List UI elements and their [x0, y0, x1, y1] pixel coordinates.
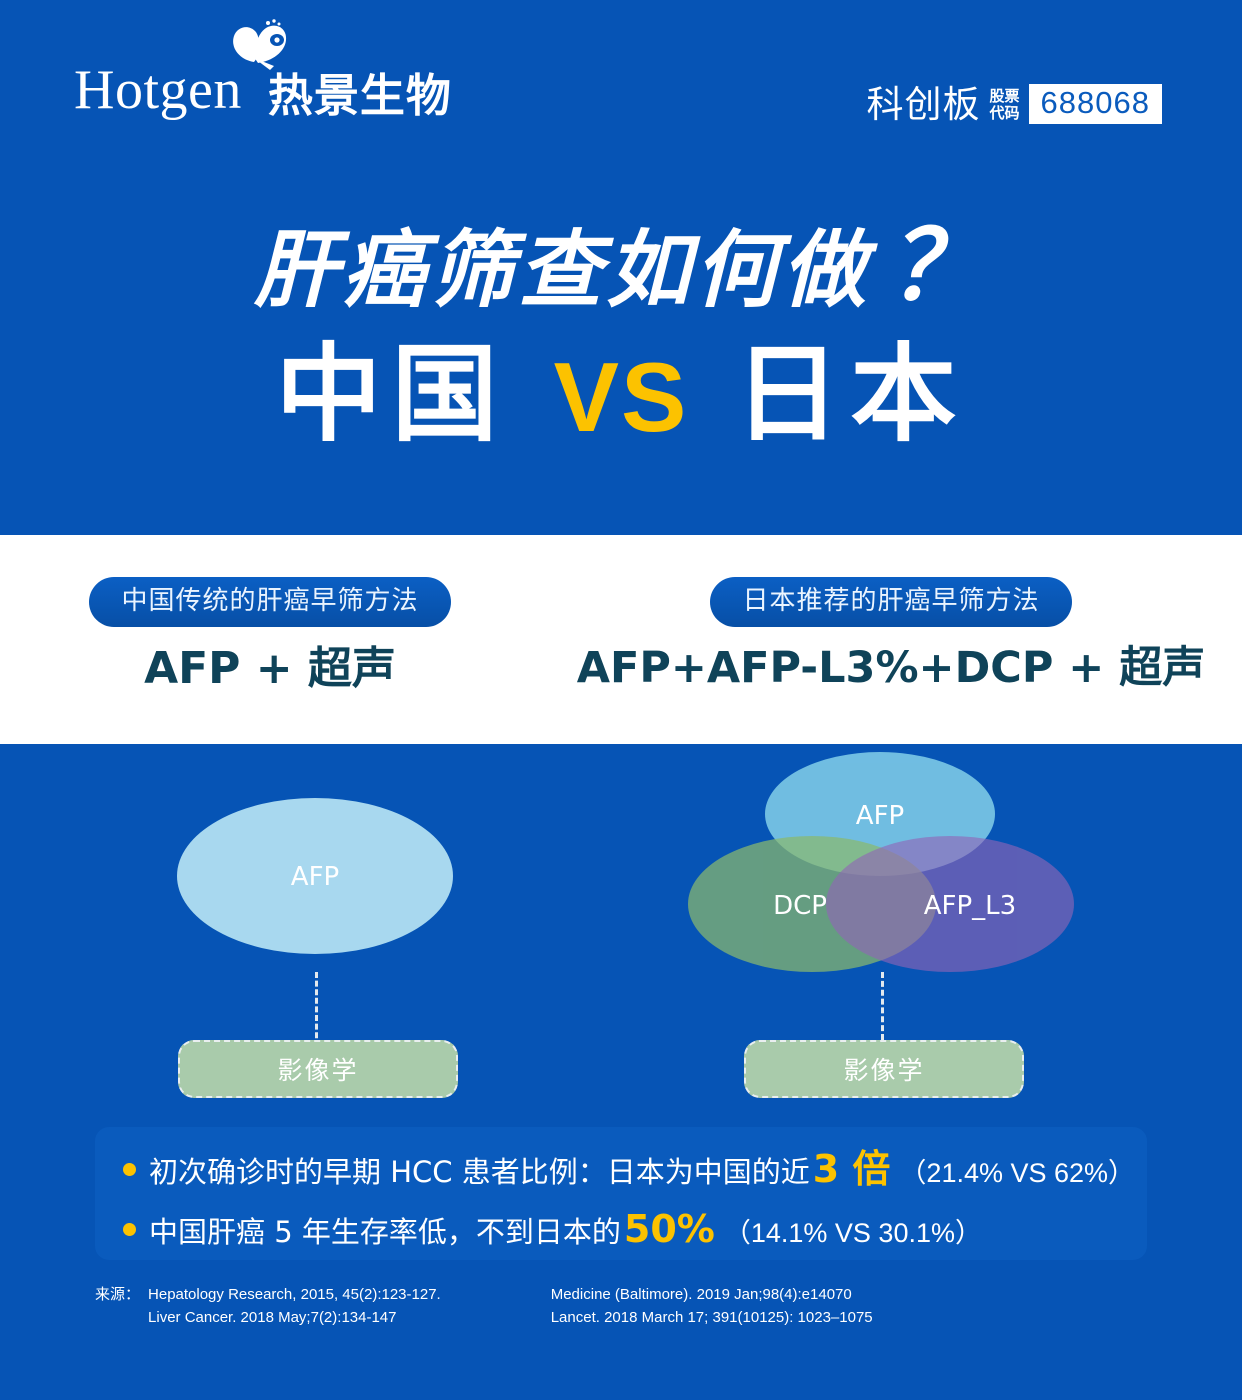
source-line: Lancet. 2018 March 17; 391(10125): 1023–…: [551, 1306, 873, 1329]
venn-japan: [640, 744, 1200, 994]
methods-panel: 中国传统的肝癌早筛方法 AFP + 超声 日本推荐的肝癌早筛方法 AFP+AFP…: [0, 535, 1242, 744]
bullet-dot-icon: [123, 1163, 136, 1176]
sources-column-1: Hepatology Research, 2015, 45(2):123-127…: [148, 1283, 441, 1330]
brand-latin-name: Hotgen: [74, 59, 242, 121]
butterfly-icon: [224, 18, 298, 80]
statistic-2-highlight: 50%: [621, 1207, 718, 1253]
method-formula-japan: AFP+AFP-L3%+DCP + 超声: [577, 645, 1206, 692]
method-pill-china: 中国传统的肝癌早筛方法: [89, 577, 450, 627]
page-title-text: 肝癌筛查如何做: [254, 221, 870, 319]
header: Hotgen 热景生物: [0, 0, 1242, 175]
ellipse-afp: [177, 798, 453, 954]
method-column-japan: 日本推荐的肝癌早筛方法 AFP+AFP-L3%+DCP + 超声: [540, 535, 1242, 744]
statistic-item-1: 初次确诊时的早期 HCC 患者比例：日本为中国的近 3 倍 （21.4% VS …: [123, 1147, 1147, 1193]
stock-code-badge: 科创板 股票 代码 688068: [867, 84, 1162, 124]
statistic-1-highlight: 3 倍: [810, 1147, 894, 1193]
statistic-2-detail: （14.1% VS 30.1%）: [724, 1217, 982, 1249]
source-line: Medicine (Baltimore). 2019 Jan;98(4):e14…: [551, 1283, 873, 1306]
source-line: Hepatology Research, 2015, 45(2):123-127…: [148, 1283, 441, 1306]
stock-market-label: 科创板: [867, 86, 981, 123]
source-line: Liver Cancer. 2018 May;7(2):134-147: [148, 1306, 441, 1329]
stock-code-value: 688068: [1029, 84, 1162, 124]
diagram-japan: AFP DCP AFP_L3 影像学: [640, 744, 1200, 1124]
diagram-china: AFP 影像学: [60, 744, 620, 1124]
imaging-box-japan: 影像学: [744, 1040, 1024, 1098]
country-left-label: 中国: [276, 333, 508, 456]
ellipse-afp-l3: [826, 836, 1074, 972]
brand-logo: Hotgen 热景生物: [74, 62, 452, 118]
infographic-poster: Hotgen 热景生物: [0, 0, 1242, 1400]
sources-block: 来源： Hepatology Research, 2015, 45(2):123…: [95, 1283, 1147, 1330]
stock-caption-line1: 股票: [990, 88, 1020, 105]
stock-caption-line2: 代码: [990, 105, 1020, 122]
statistic-item-2: 中国肝癌 5 年生存率低，不到日本的 50% （14.1% VS 30.1%）: [123, 1207, 1147, 1253]
connector-line-japan: [881, 972, 884, 1040]
vs-label: VS: [554, 342, 689, 452]
statistics-panel: 初次确诊时的早期 HCC 患者比例：日本为中国的近 3 倍 （21.4% VS …: [95, 1127, 1147, 1260]
statistic-1-detail: （21.4% VS 62%）: [899, 1157, 1135, 1189]
sources-column-2: Medicine (Baltimore). 2019 Jan;98(4):e14…: [551, 1283, 873, 1330]
sources-label: 来源：: [95, 1283, 140, 1330]
imaging-box-china: 影像学: [178, 1040, 458, 1098]
method-pill-japan: 日本推荐的肝癌早筛方法: [710, 577, 1071, 627]
bullet-dot-icon: [123, 1223, 136, 1236]
hero-section: 肝癌筛查如何做？ 中国VS日本: [0, 175, 1242, 535]
method-formula-china: AFP + 超声: [144, 645, 396, 693]
diagram-section: AFP 影像学 AFP DCP AFP_L3 影像学: [0, 744, 1242, 1124]
venn-china: [60, 764, 620, 994]
country-right-label: 日本: [734, 333, 966, 456]
statistic-2-text: 中国肝癌 5 年生存率低，不到日本的: [149, 1215, 621, 1250]
method-column-china: 中国传统的肝癌早筛方法 AFP + 超声: [0, 535, 540, 744]
stock-code-caption: 股票 代码: [990, 88, 1020, 122]
page-title-question-mark: ？: [888, 213, 988, 320]
page-title: 肝癌筛查如何做？: [0, 219, 1242, 315]
statistic-1-text: 初次确诊时的早期 HCC 患者比例：日本为中国的近: [149, 1155, 810, 1190]
versus-headline: 中国VS日本: [0, 339, 1242, 450]
